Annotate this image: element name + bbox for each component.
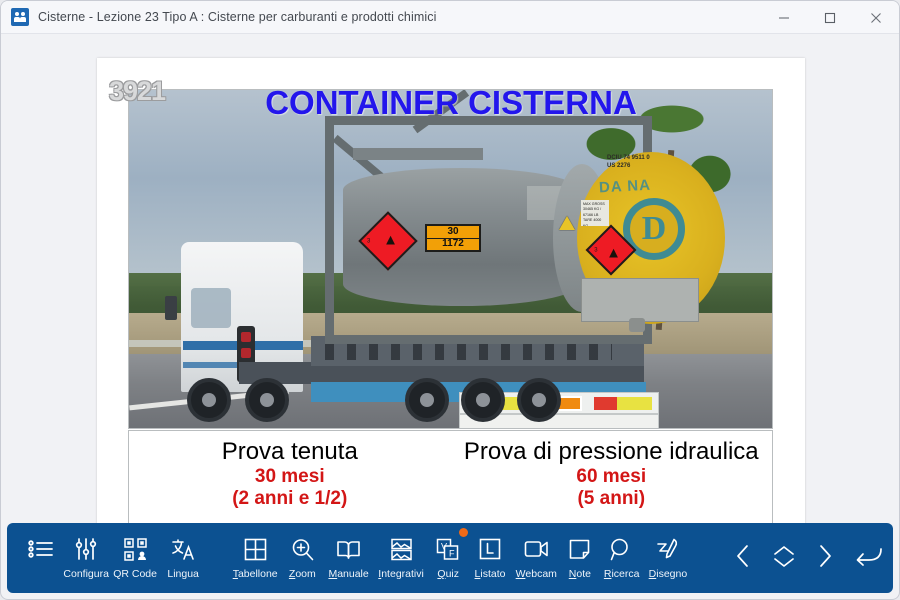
toolbar-label: QR Code bbox=[113, 568, 157, 580]
toolbar-label: Ricerca bbox=[604, 568, 640, 580]
container-top-plate bbox=[353, 148, 483, 160]
hazard-placard-top: 30 bbox=[427, 227, 479, 239]
title-bar: Cisterne - Lezione 23 Tipo A : Cisterne … bbox=[1, 1, 899, 34]
container-code-line-2: US 2276 bbox=[607, 162, 650, 170]
listato-l-icon bbox=[472, 533, 508, 565]
truck-mirror bbox=[165, 296, 177, 320]
column-heading: Prova tenuta bbox=[222, 439, 358, 466]
toolbar-item-quiz[interactable]: V F Quiz bbox=[429, 527, 468, 589]
translate-icon bbox=[165, 533, 201, 565]
truck-cab-window bbox=[191, 288, 231, 328]
chevron-left-icon bbox=[733, 543, 753, 574]
toolbar-label: Disegno bbox=[649, 568, 688, 580]
toolbar-label: Zoom bbox=[289, 568, 316, 580]
tank-max-gross: MAX GROSS 30465 KG / 67166 LB bbox=[583, 202, 607, 218]
toolbar-label: Quiz bbox=[437, 568, 459, 580]
container-brand: DA NA bbox=[599, 177, 652, 197]
return-arrow-icon bbox=[854, 544, 884, 573]
window-title: Cisterne - Lezione 23 Tipo A : Cisterne … bbox=[38, 10, 436, 24]
bulleted-list-icon bbox=[23, 533, 59, 565]
column-detail: (5 anni) bbox=[577, 488, 645, 510]
maximize-button[interactable] bbox=[807, 1, 853, 34]
wheel bbox=[405, 378, 449, 422]
slide-text-box: Prova tenuta 30 mesi (2 anni e 1/2) Prov… bbox=[128, 430, 773, 534]
container-code-line-1: DCIU 74 9511 0 bbox=[607, 154, 650, 162]
column-value: 30 mesi bbox=[255, 466, 325, 488]
toolbar-item-listato[interactable]: Listato bbox=[468, 527, 512, 589]
toolbar-label: Tabellone bbox=[233, 568, 278, 580]
qr-code-icon bbox=[117, 533, 153, 565]
wheel bbox=[245, 378, 289, 422]
wheel bbox=[517, 378, 561, 422]
slide-card[interactable]: 3921 CONTAINER CISTERNA bbox=[97, 58, 805, 558]
tank-tare: TARE 4000 KG bbox=[583, 218, 607, 226]
slide-stage: 3921 CONTAINER CISTERNA bbox=[1, 34, 899, 523]
slide-number: 3921 bbox=[109, 76, 165, 107]
container-code: DCIU 74 9511 0 US 2276 bbox=[607, 154, 650, 170]
toolbar-label: Note bbox=[569, 568, 591, 580]
tank-weight-plate: MAX GROSS 30465 KG / 67166 LB TARE 4000 … bbox=[581, 200, 609, 226]
column-value: 60 mesi bbox=[576, 466, 646, 488]
toolbar-item-webcam[interactable]: Webcam bbox=[512, 527, 560, 589]
toolbar-item-ricerca[interactable]: Ricerca bbox=[599, 527, 643, 589]
toolbar-item-configura[interactable]: Configura bbox=[62, 527, 110, 589]
book-icon bbox=[331, 533, 367, 565]
chevron-right-icon bbox=[815, 543, 835, 574]
toolbar-item-lingua[interactable]: Lingua bbox=[160, 527, 206, 589]
nav-back-button[interactable] bbox=[845, 531, 893, 585]
wheel bbox=[461, 378, 505, 422]
toolbar-label: Configura bbox=[63, 568, 109, 580]
zoom-in-icon bbox=[284, 533, 320, 565]
images-icon bbox=[383, 533, 419, 565]
text-column-right: Prova di pressione idraulica 60 mesi (5 … bbox=[451, 431, 773, 533]
users-group-icon bbox=[11, 8, 29, 26]
quiz-notification-badge bbox=[459, 528, 468, 537]
toolbar-label: Listato bbox=[475, 568, 506, 580]
svg-text:V: V bbox=[441, 541, 447, 551]
svg-text:F: F bbox=[449, 548, 455, 558]
wheel bbox=[187, 378, 231, 422]
nav-updown-button[interactable] bbox=[763, 531, 804, 585]
window-controls bbox=[761, 1, 899, 34]
toolbar-item-zoom[interactable]: Zoom bbox=[281, 527, 324, 589]
toolbar-item-qr-code[interactable]: QR Code bbox=[110, 527, 160, 589]
toolbar-label: Manuale bbox=[328, 568, 368, 580]
note-icon bbox=[562, 533, 598, 565]
sliders-icon bbox=[68, 533, 104, 565]
slide-photo: DCIU 74 9511 0 US 2276 DA NA D MAX GROSS… bbox=[128, 89, 773, 429]
toolbar-item-tabellone[interactable]: Tabellone bbox=[229, 527, 281, 589]
app-window: Cisterne - Lezione 23 Tipo A : Cisterne … bbox=[0, 0, 900, 600]
minimize-button[interactable] bbox=[761, 1, 807, 34]
container-valve bbox=[629, 318, 645, 332]
chevron-up-down-icon bbox=[771, 544, 797, 573]
toolbar-item-menu[interactable] bbox=[19, 527, 62, 589]
slide-title: CONTAINER CISTERNA bbox=[97, 84, 805, 122]
toolbar-label: Lingua bbox=[167, 568, 199, 580]
webcam-icon bbox=[518, 533, 554, 565]
nav-previous-button[interactable] bbox=[722, 531, 763, 585]
trailer-beam-holes bbox=[325, 344, 612, 360]
toolbar-item-disegno[interactable]: Disegno bbox=[644, 527, 692, 589]
bottom-toolbar: Configura QR Code bbox=[7, 523, 893, 593]
text-column-left: Prova tenuta 30 mesi (2 anni e 1/2) bbox=[129, 431, 451, 533]
nav-next-button[interactable] bbox=[804, 531, 845, 585]
warning-triangle-icon bbox=[559, 216, 575, 230]
toolbar-item-note[interactable]: Note bbox=[560, 527, 599, 589]
column-detail: (2 anni e 1/2) bbox=[232, 488, 347, 510]
vero-falso-icon: V F bbox=[430, 533, 466, 565]
column-heading: Prova di pressione idraulica bbox=[464, 439, 759, 466]
search-icon bbox=[604, 533, 640, 565]
toolbar-label: Webcam bbox=[516, 568, 557, 580]
container-door-box bbox=[581, 278, 699, 322]
close-button[interactable] bbox=[853, 1, 899, 34]
grid-icon bbox=[237, 533, 273, 565]
toolbar-item-integrativi[interactable]: Integrativi bbox=[373, 527, 428, 589]
hazard-placard: 30 1172 bbox=[425, 224, 481, 252]
toolbar-item-manuale[interactable]: Manuale bbox=[324, 527, 374, 589]
pen-icon bbox=[650, 533, 686, 565]
toolbar-label: Integrativi bbox=[378, 568, 424, 580]
hazard-placard-bottom: 1172 bbox=[427, 239, 479, 250]
